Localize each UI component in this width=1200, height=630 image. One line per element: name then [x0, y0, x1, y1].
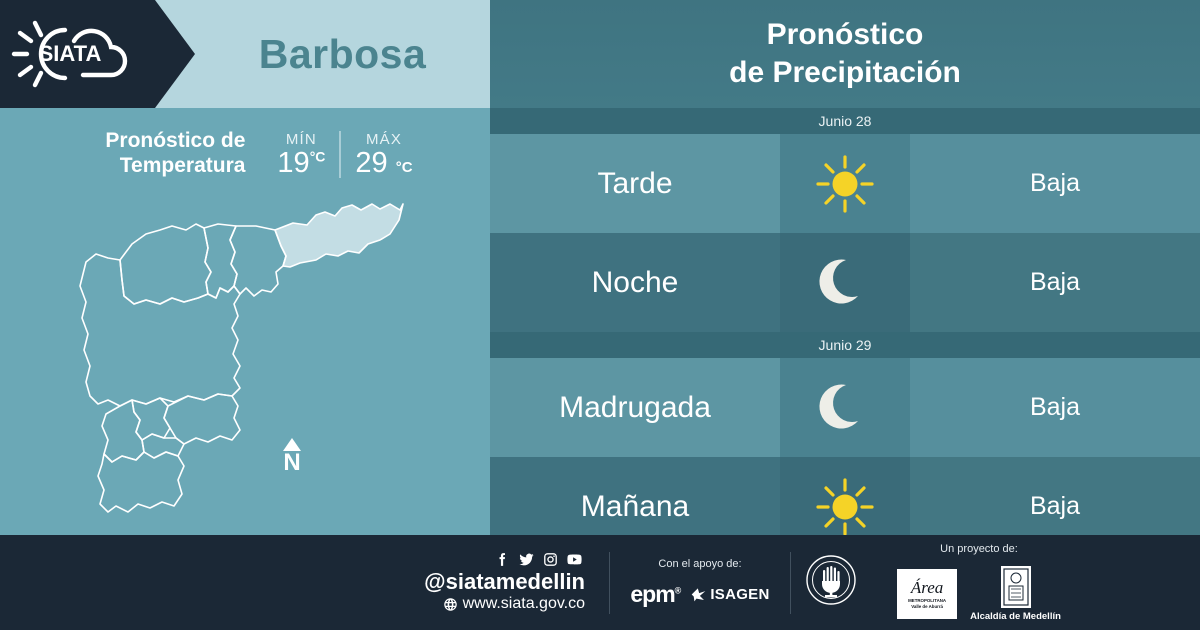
alcaldia-de-medellin-logo: Alcaldía de Medellín	[970, 566, 1061, 622]
facebook-icon[interactable]	[494, 551, 511, 568]
alcaldia-label: Alcaldía de Medellín	[970, 611, 1061, 622]
municipality-medellin	[80, 254, 240, 406]
forecast-probability: Baja	[910, 134, 1200, 233]
epm-logo: epm®	[630, 581, 680, 608]
social-icon-row	[109, 551, 585, 568]
precipitation-title-line1: Pronóstico	[767, 18, 924, 51]
globe-icon	[443, 597, 458, 612]
footer-social-block: @siatamedellin www.siata.gov.co	[109, 551, 609, 615]
municipality-caldas	[98, 452, 184, 512]
date-band-day2: Junio 29	[490, 332, 1200, 358]
forecast-period: Tarde	[490, 134, 780, 233]
municipality-girardota	[230, 226, 286, 296]
udea-seal-icon	[805, 554, 857, 606]
north-arrow-label: N	[277, 451, 307, 475]
isagen-mark-icon	[690, 587, 707, 602]
brand-bar: SIATA Barbosa	[0, 0, 490, 108]
map-area: Pronóstico de Temperatura MÍN 19°C MÁX 2…	[0, 108, 490, 535]
project-caption: Un proyecto de:	[867, 543, 1091, 555]
temperature-min-unit: °C	[310, 148, 326, 164]
isagen-logo: ISAGEN	[690, 586, 769, 603]
temperature-max-label: MÁX	[355, 131, 412, 148]
left-panel: SIATA Barbosa Pronóstico de Temperatura …	[0, 0, 490, 535]
precipitation-title: Pronóstico de Precipitación	[729, 16, 961, 92]
precipitation-panel: Pronóstico de Precipitación Junio 28 Tar…	[490, 0, 1200, 535]
precipitation-header: Pronóstico de Precipitación	[490, 0, 1200, 108]
support-logos: epm® ISAGEN	[616, 581, 784, 608]
temperature-min-label: MÍN	[277, 131, 325, 148]
municipality-la-estrella	[102, 400, 144, 462]
siata-sun-cloud-logo: SIATA	[8, 17, 143, 91]
footer-project-block: Un proyecto de: Área METROPOLITANAValle …	[791, 543, 1091, 622]
twitter-icon[interactable]	[518, 551, 535, 568]
sun-icon	[814, 476, 876, 538]
temperature-title-line1: Pronóstico de	[105, 129, 245, 152]
area-script-label: Área	[911, 579, 943, 596]
isagen-label: ISAGEN	[710, 586, 769, 603]
area-sub-label: METROPOLITANAValle de Aburrá	[908, 598, 946, 609]
support-caption: Con el apoyo de:	[616, 558, 784, 570]
siata-logo-text: SIATA	[39, 41, 102, 66]
project-right: Un proyecto de: Área METROPOLITANAValle …	[867, 543, 1091, 622]
forecast-period: Noche	[490, 233, 780, 332]
valle-de-aburra-map	[28, 168, 468, 528]
area-metropolitana-logo: Área METROPOLITANAValle de Aburrá	[897, 569, 957, 619]
moon-icon	[814, 252, 876, 314]
instagram-icon[interactable]	[542, 551, 559, 568]
north-arrow: N	[277, 438, 307, 475]
forecast-icon-cell	[780, 233, 910, 332]
forecast-icon-cell	[780, 134, 910, 233]
forecast-row: Noche Baja	[490, 233, 1200, 332]
youtube-icon[interactable]	[566, 551, 583, 568]
website-url: www.siata.gov.co	[463, 594, 585, 615]
date-band-day1: Junio 28	[490, 108, 1200, 134]
precipitation-title-line2: de Precipitación	[729, 56, 961, 89]
weather-forecast-infographic: SIATA Barbosa Pronóstico de Temperatura …	[0, 0, 1200, 630]
alcaldia-crest-icon	[1001, 566, 1031, 608]
municipality-barbosa	[275, 204, 403, 267]
forecast-row: Tarde Baja	[490, 134, 1200, 233]
city-title: Barbosa	[195, 0, 490, 108]
municipality-bello	[120, 224, 211, 304]
project-logos: Área METROPOLITANAValle de Aburrá	[867, 566, 1091, 622]
website-line[interactable]: www.siata.gov.co	[109, 594, 585, 615]
footer-support-block: Con el apoyo de: epm® ISAGEN	[610, 558, 790, 608]
forecast-period: Madrugada	[490, 358, 780, 457]
siata-logo-plate: SIATA	[0, 0, 195, 108]
footer: @siatamedellin www.siata.gov.co Con el a…	[0, 535, 1200, 630]
moon-icon	[814, 377, 876, 439]
municipality-envigado	[164, 394, 240, 444]
sun-icon	[814, 153, 876, 215]
universidad-de-antioquia-seal	[805, 554, 857, 611]
forecast-icon-cell	[780, 358, 910, 457]
forecast-probability: Baja	[910, 358, 1200, 457]
social-handle[interactable]: @siatamedellin	[109, 570, 585, 594]
forecast-probability: Baja	[910, 233, 1200, 332]
forecast-row: Madrugada Baja	[490, 358, 1200, 457]
